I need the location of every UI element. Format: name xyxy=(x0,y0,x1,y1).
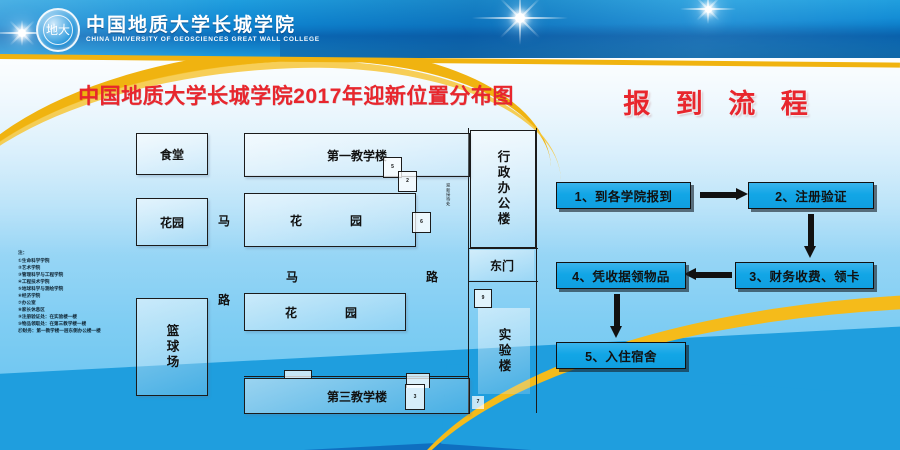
top-banner: 地大 中国地质大学长城学院 CHINA UNIVERSITY OF GEOSCI… xyxy=(0,0,900,58)
legend-item: ⑦办公室 xyxy=(18,300,130,307)
legend-item: ⑤地球科学与测绘学院 xyxy=(18,286,130,293)
map-building-garden-left[interactable]: 花园 xyxy=(136,198,208,246)
poster-canvas: 地大 中国地质大学长城学院 CHINA UNIVERSITY OF GEOSCI… xyxy=(0,0,900,450)
flow-step-label: 5、入住宿舍 xyxy=(585,346,657,365)
legend-title: 注： xyxy=(18,250,130,257)
map-building-garden-mid[interactable]: 花 园 xyxy=(244,193,416,247)
legend-item: ⑧家长休息区 xyxy=(18,307,130,314)
map-marker[interactable]: 3 xyxy=(405,384,425,410)
map-building-lab[interactable]: 实验楼 xyxy=(478,308,530,394)
map-building-east-gate[interactable]: 东门 xyxy=(470,250,534,280)
legend-item: ④工程技术学院 xyxy=(18,279,130,286)
map-building-label: 食堂 xyxy=(160,146,184,163)
map-divider-horizontal-2 xyxy=(468,281,538,282)
map-building-garden-mid-2[interactable]: 花 园 xyxy=(244,293,406,331)
map-marker[interactable]: 7 xyxy=(472,396,484,409)
arrow-right-icon xyxy=(700,188,748,200)
flow-step-label: 3、财务收费、领卡 xyxy=(749,266,860,285)
legend-item: ⑥经济学院 xyxy=(18,293,130,300)
map-marker-notch xyxy=(284,370,312,378)
flow-step-label: 4、凭收据领物品 xyxy=(572,266,670,285)
flow-step-1[interactable]: 1、到各学院报到 xyxy=(556,182,691,209)
campus-map: 食堂 第一教学楼 5 2 花园 马 路 花 园 6 迎新接待处 行政办公楼 东门… xyxy=(126,128,538,413)
flow-step-5[interactable]: 5、入住宿舍 xyxy=(556,342,686,369)
map-building-label: 东门 xyxy=(490,257,514,274)
seal-glyph: 地大 xyxy=(46,24,70,36)
flow-step-label: 1、到各学院报到 xyxy=(575,186,673,205)
legend-item: ⑪财务：第一教学楼一层东侧办公楼一楼 xyxy=(18,328,130,335)
legend-item: ③管理科学与工程学院 xyxy=(18,272,130,279)
college-seal-icon: 地大 xyxy=(36,8,80,52)
map-title: 中国地质大学长城学院2017年迎新位置分布图 xyxy=(56,80,536,110)
flow-step-label: 2、注册验证 xyxy=(775,186,847,205)
map-marker[interactable]: 6 xyxy=(412,212,431,233)
flow-title: 报 到 流 程 xyxy=(560,82,880,121)
flow-step-4[interactable]: 4、凭收据领物品 xyxy=(556,262,686,289)
map-road-label-vertical-top: 马 xyxy=(218,212,230,229)
legend-item: ⑨注册验证处：在实验楼一楼 xyxy=(18,314,130,321)
map-building-label: 第三教学楼 xyxy=(327,388,387,405)
map-building-label: 花园 xyxy=(160,214,184,231)
map-building-teaching-1[interactable]: 第一教学楼 xyxy=(244,133,470,177)
flow-step-3[interactable]: 3、财务收费、领卡 xyxy=(735,262,874,289)
map-building-label: 花 园 xyxy=(285,304,365,321)
map-road-label-vertical-bottom: 路 xyxy=(218,291,230,308)
map-building-canteen[interactable]: 食堂 xyxy=(136,133,208,175)
map-vertical-note: 迎新接待处 xyxy=(446,183,450,231)
legend-item: ②艺术学院 xyxy=(18,265,130,272)
arrow-down-icon xyxy=(804,214,816,258)
map-building-label: 实验楼 xyxy=(495,328,514,375)
map-marker[interactable]: 2 xyxy=(398,171,417,192)
legend-item: ①生命科学学院 xyxy=(18,258,130,265)
arrow-left-icon xyxy=(684,268,732,280)
college-logo: 地大 中国地质大学长城学院 CHINA UNIVERSITY OF GEOSCI… xyxy=(36,8,320,52)
map-building-admin[interactable]: 行政办公楼 xyxy=(470,130,536,248)
map-building-teaching-3[interactable]: 第三教学楼 xyxy=(244,378,470,414)
map-edge-right xyxy=(536,128,537,413)
flow-step-2[interactable]: 2、注册验证 xyxy=(748,182,874,209)
map-road-label-horizontal-left: 马 xyxy=(286,268,298,285)
map-building-basketball[interactable]: 篮球场 xyxy=(136,298,208,396)
map-marker[interactable]: 9 xyxy=(474,289,492,308)
map-road-label-horizontal-right: 路 xyxy=(426,268,438,285)
college-name-cn: 中国地质大学长城学院 xyxy=(86,16,320,36)
map-building-label: 花 园 xyxy=(290,212,370,229)
map-legend: 注： ①生命科学学院 ②艺术学院 ③管理科学与工程学院 ④工程技术学院 ⑤地球科… xyxy=(18,250,130,335)
arrow-down-icon xyxy=(610,294,622,338)
map-building-label: 行政办公楼 xyxy=(494,150,513,228)
college-name-en: CHINA UNIVERSITY OF GEOSCIENCES GREAT WA… xyxy=(86,36,320,44)
legend-item: ⑩物品领取处：在第三教学楼一楼 xyxy=(18,321,130,328)
map-building-label: 第一教学楼 xyxy=(327,147,387,164)
map-building-label: 篮球场 xyxy=(163,324,182,371)
